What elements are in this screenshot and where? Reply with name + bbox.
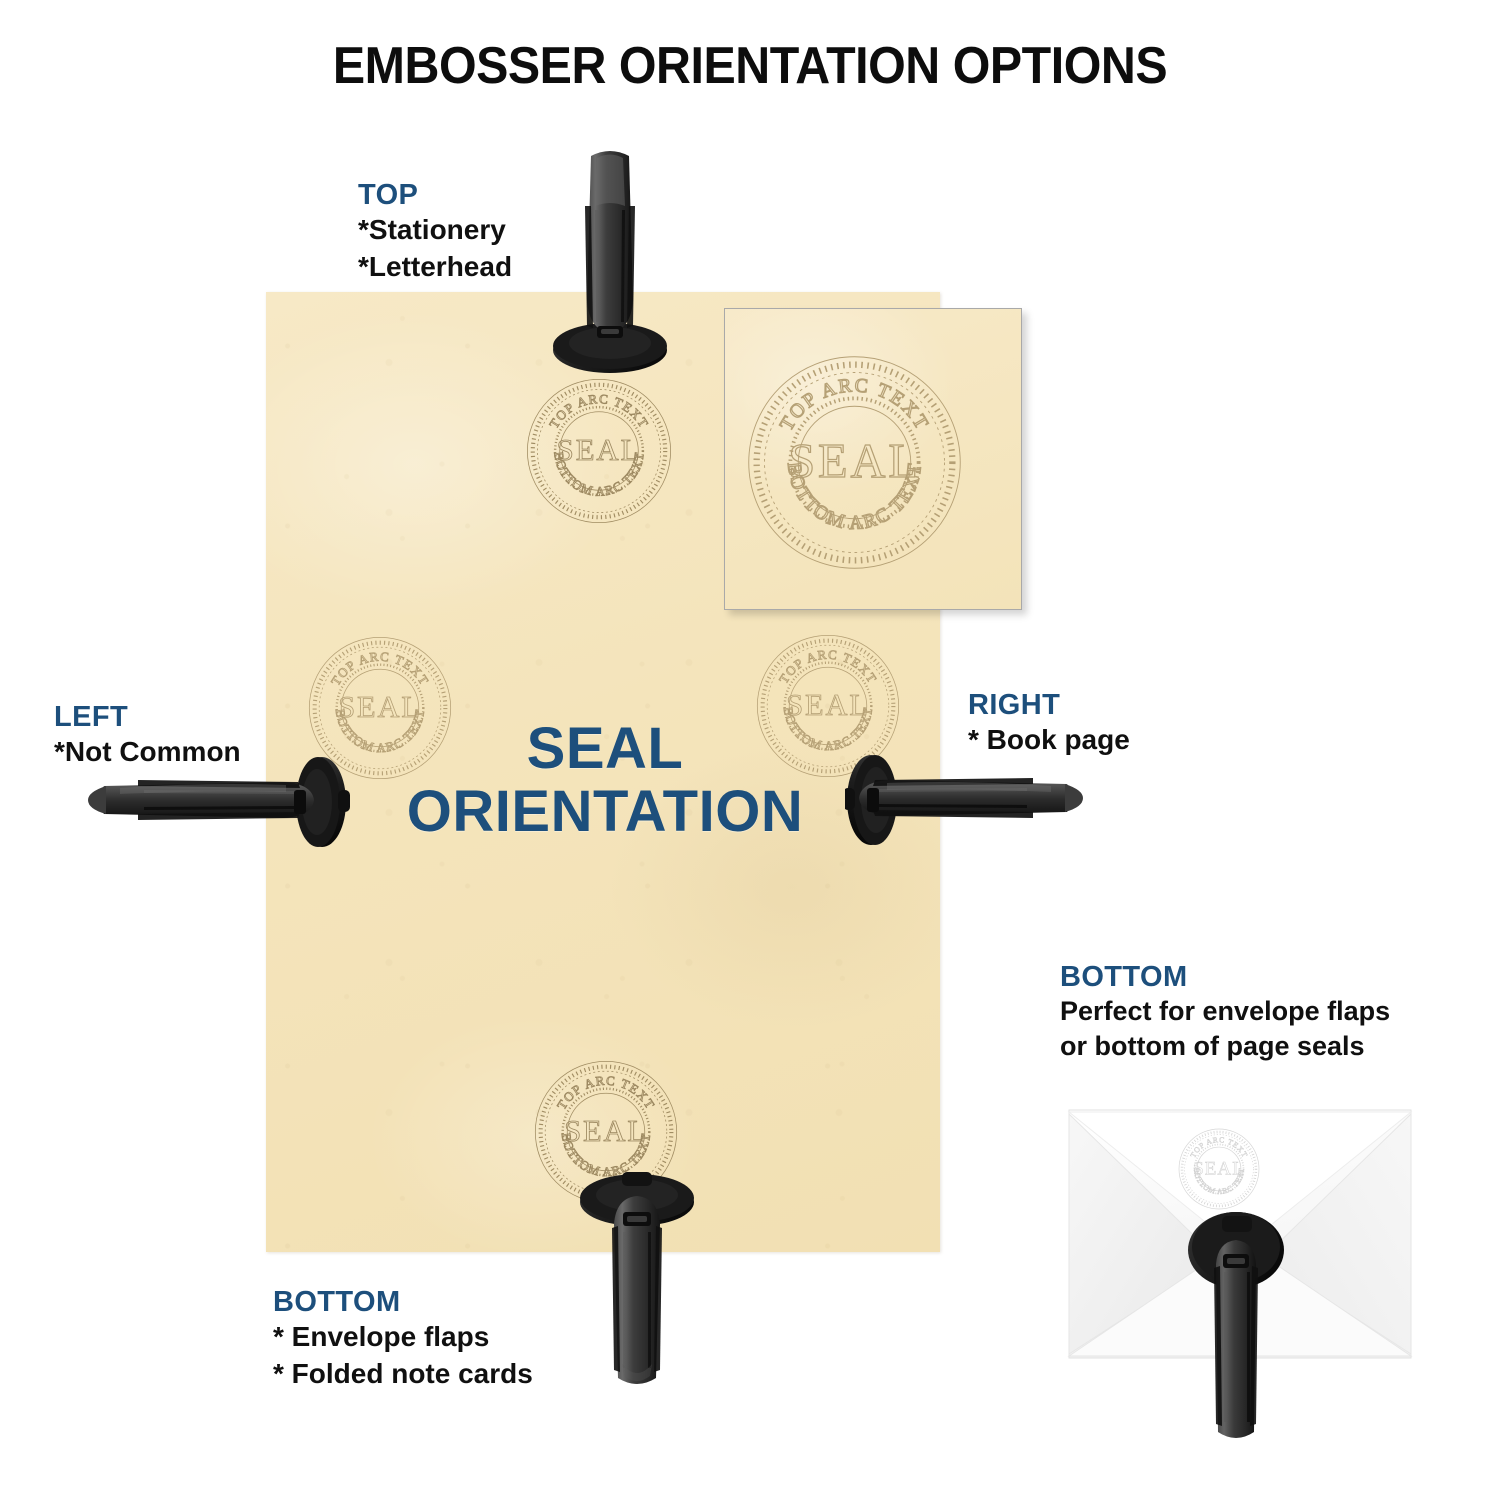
label-top-line-1: *Stationery bbox=[358, 212, 512, 248]
embossed-seal-envelope: TOP ARC TEXT BOTTOM ARC TEXT SEAL bbox=[1176, 1126, 1262, 1212]
label-bottom-envelope-line-1: Perfect for envelope flaps bbox=[1060, 994, 1390, 1029]
seal-orientation-line-2: ORIENTATION bbox=[330, 781, 880, 844]
seal-center-text: SEAL bbox=[564, 1114, 648, 1148]
label-top: TOP *Stationery *Letterhead bbox=[358, 178, 512, 285]
embossed-seal-top: TOP ARC TEXT BOTTOM ARC TEXT SEAL bbox=[522, 374, 676, 528]
label-right-heading: RIGHT bbox=[968, 688, 1130, 722]
label-right-line-1: * Book page bbox=[968, 722, 1130, 758]
label-top-line-2: *Letterhead bbox=[358, 249, 512, 285]
page-title: EMBOSSER ORIENTATION OPTIONS bbox=[53, 36, 1448, 96]
embosser-tool-top bbox=[551, 150, 669, 375]
seal-center-text: SEAL bbox=[788, 435, 921, 488]
label-right: RIGHT * Book page bbox=[968, 688, 1130, 759]
seal-orientation-heading: SEAL ORIENTATION bbox=[330, 718, 880, 843]
label-bottom-envelope: BOTTOM Perfect for envelope flaps or bot… bbox=[1060, 960, 1390, 1064]
label-bottom-page-line-1: * Envelope flaps bbox=[273, 1319, 533, 1355]
embosser-tool-right bbox=[845, 750, 1085, 846]
embosser-tool-bottom bbox=[578, 1166, 696, 1398]
seal-center-text: SEAL bbox=[1193, 1159, 1245, 1180]
embosser-tool-envelope bbox=[1180, 1210, 1292, 1450]
label-left: LEFT *Not Common bbox=[54, 700, 241, 771]
label-left-heading: LEFT bbox=[54, 700, 241, 734]
magnifier-callout: TOP ARC TEXT BOTTOM ARC TEXT SEAL bbox=[724, 308, 1022, 610]
label-bottom-envelope-heading: BOTTOM bbox=[1060, 960, 1390, 994]
label-top-heading: TOP bbox=[358, 178, 512, 212]
svg-text:TOP ARC TEXT: TOP ARC TEXT bbox=[776, 374, 934, 434]
label-bottom-envelope-line-2: or bottom of page seals bbox=[1060, 1029, 1390, 1064]
seal-top-arc-text: TOP ARC TEXT bbox=[776, 374, 934, 434]
label-bottom-page: BOTTOM * Envelope flaps * Folded note ca… bbox=[273, 1285, 533, 1392]
seal-orientation-line-1: SEAL bbox=[330, 718, 880, 781]
seal-center-text: SEAL bbox=[557, 433, 642, 467]
label-bottom-page-heading: BOTTOM bbox=[273, 1285, 533, 1319]
label-bottom-page-line-2: * Folded note cards bbox=[273, 1356, 533, 1392]
embossed-seal-magnified: TOP ARC TEXT BOTTOM ARC TEXT SEAL bbox=[742, 350, 967, 575]
label-left-line-1: *Not Common bbox=[54, 734, 241, 770]
